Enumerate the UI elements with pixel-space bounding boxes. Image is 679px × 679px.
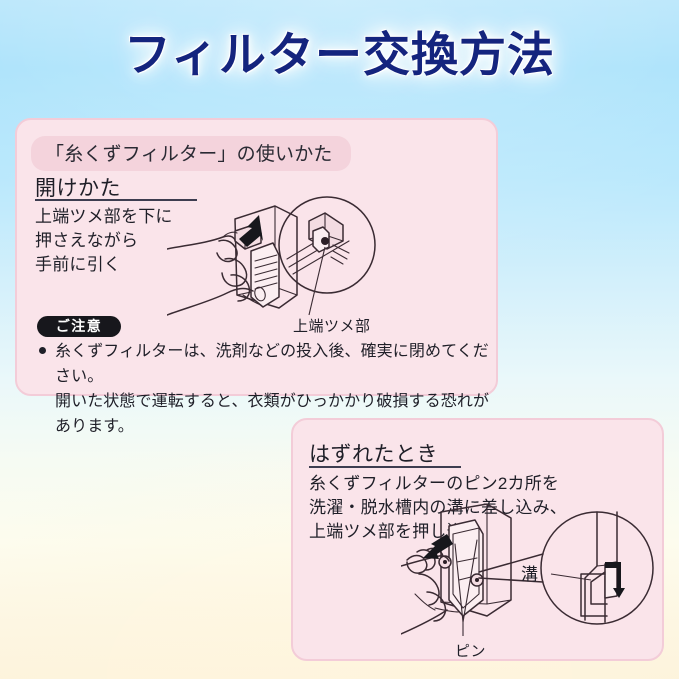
caution-bullet-dot xyxy=(39,347,46,354)
instruction-page: フィルター交換方法 「糸くずフィルター」の使いかた 開けかた 上端ツメ部を下に … xyxy=(0,0,679,679)
illustration-label-pin: ピン xyxy=(455,640,486,661)
body-text-detached: 糸くずフィルターのピン2カ所を 洗濯・脱水槽内の溝に差し込み、 上端ツメ部を押し… xyxy=(309,472,567,544)
section-heading-rule-open xyxy=(35,199,197,201)
panel-when-detached: はずれたとき 糸くずフィルターのピン2カ所を 洗濯・脱水槽内の溝に差し込み、 上… xyxy=(291,418,664,661)
body-text-open: 上端ツメ部を下に 押さえながら 手前に引く xyxy=(35,205,173,277)
caution-badge: ご注意 xyxy=(37,316,121,337)
section-heading-open: 開けかた xyxy=(35,172,121,202)
section-heading-detached: はずれたとき xyxy=(309,438,438,468)
section-heading-rule-detached xyxy=(309,466,461,468)
panel-header-pill-lint-filter: 「糸くずフィルター」の使いかた xyxy=(31,136,351,171)
illustration-label-upper-tab: 上端ツメ部 xyxy=(293,315,371,336)
panel-how-to-open: 「糸くずフィルター」の使いかた 開けかた 上端ツメ部を下に 押さえながら 手前に… xyxy=(15,118,498,396)
page-title: フィルター交換方法 xyxy=(0,16,679,85)
illustration-label-groove: 溝 xyxy=(521,560,539,585)
